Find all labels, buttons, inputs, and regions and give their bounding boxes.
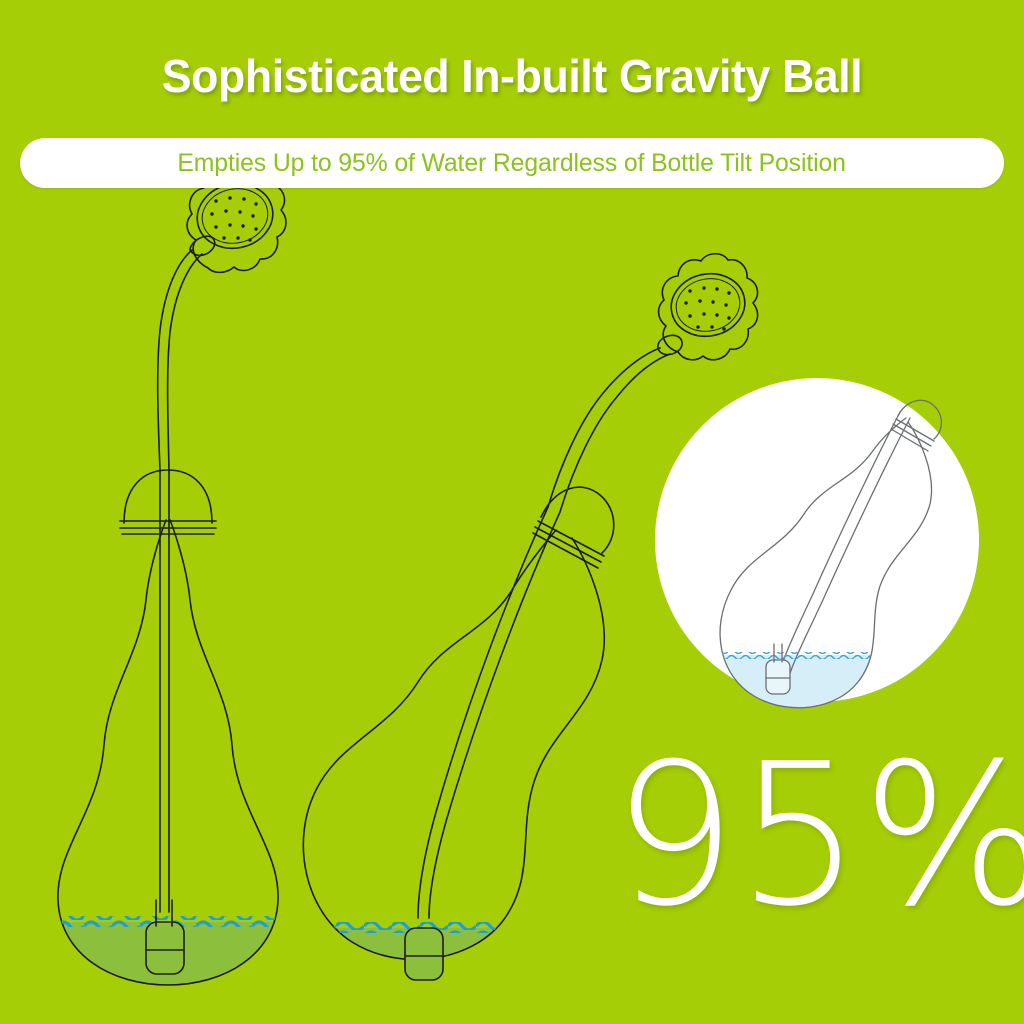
tilted-shower-perforations xyxy=(684,286,730,330)
tilted-hose xyxy=(548,348,660,507)
detail-gravity-ball xyxy=(766,660,790,694)
tilted-gravity-ball xyxy=(405,928,443,980)
detail-bottle-water xyxy=(700,655,960,725)
percentage-stat: 95% xyxy=(612,738,1012,934)
upright-gravity-ball xyxy=(146,922,184,974)
upright-hose-2 xyxy=(168,254,202,470)
subtitle-pill: Empties Up to 95% of Water Regardless of… xyxy=(20,138,1004,188)
tilted-bottle-water xyxy=(280,928,630,1008)
upright-hose xyxy=(158,250,192,470)
tilted-shower-head-outer xyxy=(659,254,758,360)
detail-circle xyxy=(655,378,979,725)
tilted-shower-plate-rim xyxy=(671,273,744,337)
subtitle-text: Empties Up to 95% of Water Regardless of… xyxy=(178,149,846,178)
upright-shower-perforations xyxy=(210,196,257,241)
upright-bottle-body xyxy=(58,520,278,985)
poster-root: Sophisticated In-built Gravity Ball Empt… xyxy=(0,0,1024,1024)
tilted-bottle-body xyxy=(303,530,604,959)
tilted-water-surface xyxy=(280,922,630,933)
tilted-pickup-tube-2 xyxy=(429,512,560,918)
upright-bottle-dome xyxy=(124,470,212,523)
upright-shower-plate-rim xyxy=(197,183,273,250)
page-title: Sophisticated In-built Gravity Ball xyxy=(15,52,1008,100)
upright-bottle xyxy=(40,163,300,1002)
